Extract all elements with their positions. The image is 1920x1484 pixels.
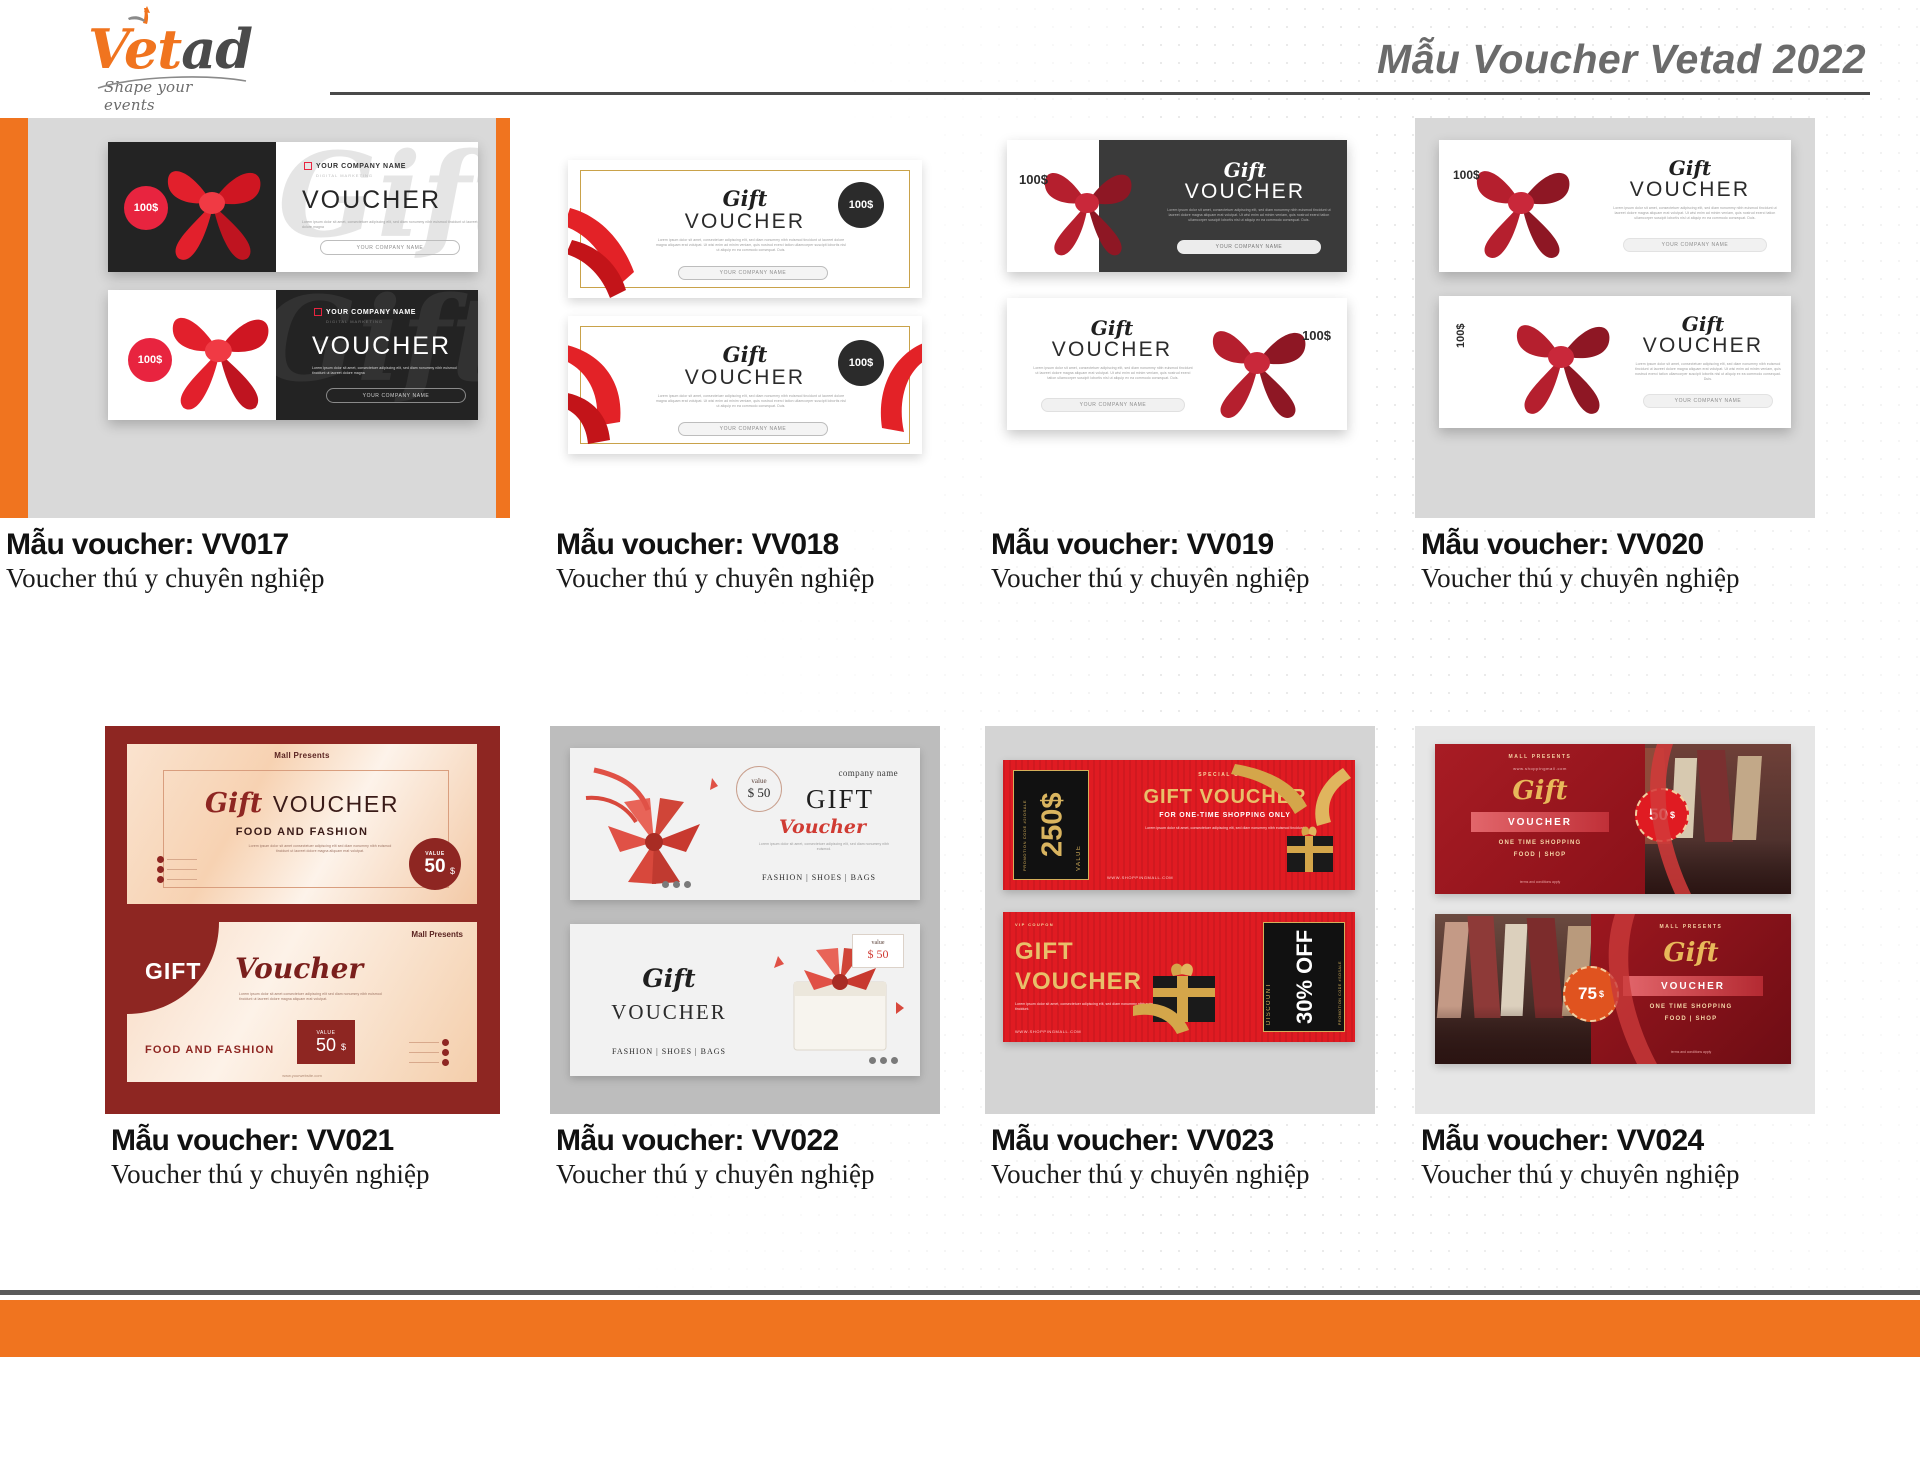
vv022-heading3-bottom: VOUCHER [594,1000,744,1025]
vv021-subheading-bottom: FOOD AND FASHION [145,1044,274,1056]
red-bow-icon [148,150,283,270]
social-icon [157,866,164,873]
caption-title-vv018: Mẫu voucher: VV018 [556,528,940,562]
voucher-thumb-vv020[interactable]: 100$ Gift VOUCHER Lorem ipsum dolor sit … [1415,118,1815,518]
vv021-url: www.yourwebsite.com [127,1073,477,1078]
red-ribbon-icon [1585,914,1665,1064]
vv022-script-top: Voucher [779,816,866,838]
social-line [409,1042,439,1044]
vv022-social-dots-top [662,881,691,888]
social-line [167,869,197,871]
social-icon [157,856,164,863]
logo-letters-et: et [124,17,181,81]
vv022-heading2-bottom: Gift [594,964,744,993]
caption-sub-vv020: Voucher thú y chuyên nghiệp [1421,563,1815,594]
vv017b-company-row: YOUR COMPANY NAME [314,308,416,316]
vv021-social-list-top [157,856,197,883]
swoosh-icon [96,76,248,90]
vv021-card-top[interactable]: Mall Presents Gift VOUCHER FOOD AND FASH… [127,744,477,904]
voucher-thumb-vv021[interactable]: Mall Presents Gift VOUCHER FOOD AND FASH… [105,726,500,1114]
vv017-card-top[interactable]: Gift 100$ YOUR COMPANY NAME [108,142,478,272]
voucher-tile-vv017[interactable]: Gift 100$ YOUR COMPANY NAME [0,118,510,594]
vv019-heading-bottom: VOUCHER [1027,338,1197,362]
vv021-value-amount-bottom: 50 [316,1036,336,1054]
social-icon [880,1057,887,1064]
vv020-card-top[interactable]: 100$ Gift VOUCHER Lorem ipsum dolor sit … [1439,140,1791,272]
vv022-value-amount-top: $ 50 [748,785,771,801]
vv021-script-top: Gift [205,788,262,819]
vv017-orange-bar-left [0,118,28,518]
gold-gift-box-icon [1133,936,1243,1036]
voucher-thumb-vv024[interactable]: MALL PRESENTS www.shoppingmall.com Gift … [1415,726,1815,1114]
logo-letter-v: V [88,17,124,81]
voucher-row-1: Gift 100$ YOUR COMPANY NAME [0,118,1920,678]
vv019-button-bottom[interactable]: YOUR COMPANY NAME [1041,398,1185,412]
vv017-button-top[interactable]: YOUR COMPANY NAME [320,240,460,255]
vv023-discount-label: DISCOUNT [1264,923,1274,1031]
vv022-card-bottom[interactable]: Gift VOUCHER FASHION | SHOES | BAGS [570,924,920,1076]
red-bow-icon [1499,302,1627,424]
voucher-thumb-vv017[interactable]: Gift 100$ YOUR COMPANY NAME [0,118,510,518]
vv021-subheading-top: FOOD AND FASHION [127,826,477,838]
vv019-badge-top: 100$ [1019,172,1048,187]
voucher-tile-vv024[interactable]: MALL PRESENTS www.shoppingmall.com Gift … [1415,726,1815,1190]
caption-title-vv020: Mẫu voucher: VV020 [1421,528,1815,562]
page-title: Mẫu Voucher Vetad 2022 [1377,36,1866,83]
vv021-heading2-bottom: GIFT [145,958,201,985]
voucher-tile-vv020[interactable]: 100$ Gift VOUCHER Lorem ipsum dolor sit … [1415,118,1815,594]
red-bow-icon [1029,152,1149,264]
social-icon [157,876,164,883]
vv021-body-top: Lorem ipsum dolor sit amet consectetuer … [245,844,395,854]
vv024-presenter-top: MALL PRESENTS [1435,754,1645,760]
vv023-url-top: WWW.SHOPPINGMALL.COM [1107,875,1173,880]
vv024-heading-top: VOUCHER [1471,812,1609,832]
vv023-discount-promo: PROMOTION CODE #SOSALE [1336,923,1344,1031]
vv018-button-bottom[interactable]: YOUR COMPANY NAME [678,422,828,436]
vv023-stub-value-label: VALUE [1076,779,1082,871]
caption-vv023: Mẫu voucher: VV023 Voucher thú y chuyên … [985,1124,1375,1190]
vv021-heading-top: VOUCHER [273,791,399,817]
gold-ribbon-gift-icon [1225,760,1355,890]
vv023-discount-value: 30% OFF [1274,923,1336,1031]
vv024-url-top: www.shoppingmall.com [1435,766,1645,771]
social-line [409,1062,439,1064]
vv018-body-bottom: Lorem ipsum dolor sit amet, consectetuer… [656,394,846,409]
vv020-badge-top: 100$ [1453,168,1480,182]
caption-title-vv023: Mẫu voucher: VV023 [991,1124,1375,1158]
vv021-title-row-top: Gift VOUCHER [127,788,477,819]
caption-sub-vv018: Voucher thú y chuyên nghiệp [556,563,940,594]
caption-sub-vv019: Voucher thú y chuyên nghiệp [991,563,1375,594]
voucher-thumb-vv023[interactable]: PROMOTION CODE #2IOSALE 250$ VALUE SPECI… [985,726,1375,1114]
vv020-button-top[interactable]: YOUR COMPANY NAME [1623,238,1767,252]
social-line [167,879,197,881]
social-icon [662,881,669,888]
vv024-card-top[interactable]: MALL PRESENTS www.shoppingmall.com Gift … [1435,744,1791,894]
vv021-script2-bottom: Voucher [235,952,363,985]
vv021-currency-bottom: $ [341,1042,346,1052]
vv024-terms2-top: FOOD | SHOP [1435,852,1645,858]
vv022-social-dots-bottom [869,1057,898,1064]
caption-title-vv019: Mẫu voucher: VV019 [991,528,1375,562]
vv023-stub-value: 250$ [1036,777,1070,873]
vv022-value-label-bottom: value [872,940,885,947]
red-bow-icon [152,296,292,420]
voucher-tile-vv023[interactable]: PROMOTION CODE #2IOSALE 250$ VALUE SPECI… [985,726,1375,1190]
social-icon [442,1039,449,1046]
social-icon [442,1049,449,1056]
vv018-card-top[interactable]: 100$ Gift VOUCHER Lorem ipsum dolor sit … [568,160,922,298]
vv020-heading-top: VOUCHER [1603,178,1777,202]
social-line [409,1052,439,1054]
voucher-tile-vv019[interactable]: 100$ Gift VOUCHER Lorem ipsum dolor sit … [985,118,1375,594]
vv017-card-bottom[interactable]: Gift 100$ YOUR COMPANY NAME [108,290,478,420]
voucher-thumb-vv018[interactable]: 100$ Gift VOUCHER Lorem ipsum dolor sit … [550,118,940,518]
vv022-value-tag-bottom: value $ 50 [852,934,904,968]
vv021-card-bottom[interactable]: Mall Presents GIFT Voucher Lorem ipsum d… [127,922,477,1082]
vv017b-heading: VOUCHER [312,332,451,361]
voucher-thumb-vv019[interactable]: 100$ Gift VOUCHER Lorem ipsum dolor sit … [985,118,1375,518]
company-mark-icon [304,162,312,170]
red-bow-icon [1195,308,1325,428]
vv020-badge-bottom: 100$ [1455,324,1467,348]
caption-vv020: Mẫu voucher: VV020 Voucher thú y chuyên … [1415,528,1815,594]
caption-title-vv024: Mẫu voucher: VV024 [1421,1124,1815,1158]
vv021-social-list-bottom [409,1039,449,1066]
social-icon [891,1057,898,1064]
vv017b-badge: 100$ [128,338,172,382]
vv022-card-top[interactable]: value $ 50 company name GIFT Voucher Lor… [570,748,920,900]
vv017-body: Lorem ipsum dolor sit amet, consectetuer… [302,220,478,230]
vv020-heading-bottom: VOUCHER [1629,334,1777,358]
vv019-body-top: Lorem ipsum dolor sit amet, consectetuer… [1165,208,1333,223]
caption-sub-vv024: Voucher thú y chuyên nghiệp [1421,1159,1815,1190]
vv017b-body: Lorem ipsum dolor sit amet, consectetuer… [312,366,462,376]
caption-sub-vv017: Voucher thú y chuyên nghiệp [6,563,510,594]
vv017b-company-sub: DIGITAL MARKETING [326,319,383,324]
caption-title-vv017: Mẫu voucher: VV017 [6,528,510,562]
caption-sub-vv021: Voucher thú y chuyên nghiệp [111,1159,500,1190]
caption-vv022: Mẫu voucher: VV022 Voucher thú y chuyên … [550,1124,940,1190]
vv019-script-top: Gift [1157,158,1333,182]
vv023-heading2b-bottom: VOUCHER [1015,968,1142,996]
vv019-card-top[interactable]: 100$ Gift VOUCHER Lorem ipsum dolor sit … [1007,140,1347,272]
footer-bar [0,1300,1920,1357]
vv018-script-bottom: Gift [568,342,922,367]
voucher-row-2: Mall Presents Gift VOUCHER FOOD AND FASH… [0,726,1920,1286]
vv023-card-bottom[interactable]: VIP COUPON GIFT VOUCHER Lorem ipsum dolo… [1003,912,1355,1042]
vetad-logo[interactable]: Vetad Shape your events [88,22,248,104]
vv023-stub-promo: PROMOTION CODE #2IOSALE [1022,779,1030,871]
vv022-categories-top: FASHION | SHOES | BAGS [762,873,876,882]
vv022-body-top: Lorem ipsum dolor sit amet, consectetuer… [754,842,894,852]
caption-vv017: Mẫu voucher: VV017 Voucher thú y chuyên … [0,528,510,594]
vv018-card-bottom[interactable]: 100$ Gift VOUCHER Lorem ipsum dolor sit … [568,316,922,454]
vv021-presenter-bottom: Mall Presents [411,930,463,939]
vv017-company-sub: DIGITAL MARKETING [316,173,373,178]
vv022-heading-top: GIFT [806,784,874,815]
vv021-value-amount-top: 50 [424,857,445,876]
vv021-body-bottom: Lorem ipsum dolor sit amet consectetuer … [239,992,389,1002]
vv022-value-label-top: value [751,777,766,785]
vv023-heading2a-bottom: GIFT [1015,938,1074,966]
vv021-presenter-top: Mall Presents [127,751,477,760]
voucher-tile-vv021[interactable]: Mall Presents Gift VOUCHER FOOD AND FASH… [105,726,500,1190]
social-icon [869,1057,876,1064]
red-star-bow-icon [582,756,732,896]
vv017-company-row: YOUR COMPANY NAME [304,162,406,170]
vv019-card-bottom[interactable]: 100$ Gift VOUCHER Lorem ipsum dolor sit … [1007,298,1347,430]
caption-vv019: Mẫu voucher: VV019 Voucher thú y chuyên … [985,528,1375,594]
social-line [167,859,197,861]
vv022-categories-bottom: FASHION | SHOES | BAGS [594,1047,744,1056]
caption-sub-vv022: Voucher thú y chuyên nghiệp [556,1159,940,1190]
vv021-value-tag-bottom: VALUE 50 [297,1020,355,1064]
vv020-script-top: Gift [1603,156,1777,180]
vv018-script-top: Gift [568,186,922,211]
vv017-button-bottom[interactable]: YOUR COMPANY NAME [326,388,466,403]
footer-divider [0,1290,1920,1295]
caption-vv021: Mẫu voucher: VV021 Voucher thú y chuyên … [105,1124,500,1190]
vv021-value-badge-top: VALUE 50 [409,838,461,890]
vv017b-company-name: YOUR COMPANY NAME [326,309,416,316]
vv024-terms-note-top: terms and conditions apply [1435,880,1645,884]
voucher-grid: Gift 100$ YOUR COMPANY NAME [0,118,1920,1286]
vv018-button-top[interactable]: YOUR COMPANY NAME [678,266,828,280]
vv023-stub-top: PROMOTION CODE #2IOSALE 250$ VALUE [1013,770,1089,880]
caption-sub-vv023: Voucher thú y chuyên nghiệp [991,1159,1375,1190]
vv019-button-top[interactable]: YOUR COMPANY NAME [1177,240,1321,254]
logo-wordmark: Vetad [88,22,248,76]
vv019-heading-top: VOUCHER [1157,180,1333,204]
vv023-discount-block: DISCOUNT 30% OFF PROMOTION CODE #SOSALE [1263,922,1345,1032]
caption-title-vv022: Mẫu voucher: VV022 [556,1124,940,1158]
vv021-currency-top: $ [450,866,455,876]
header-divider [330,92,1870,95]
vv018-heading-top: VOUCHER [568,210,922,234]
vv020-button-bottom[interactable]: YOUR COMPANY NAME [1643,394,1773,408]
caption-title-vv021: Mẫu voucher: VV021 [111,1124,500,1158]
vv024-card-bottom[interactable]: MALL PRESENTS Gift VOUCHER ONE TIME SHOP… [1435,914,1791,1064]
vv019-badge-bottom: 100$ [1302,328,1331,343]
vv024-terms1-top: ONE TIME SHOPPING [1435,840,1645,846]
vv023-url-bottom: WWW.SHOPPINGMALL.COM [1015,1029,1081,1034]
voucher-thumb-vv022[interactable]: value $ 50 company name GIFT Voucher Lor… [550,726,940,1114]
vv022-value-amount-bottom: $ 50 [868,947,889,961]
vv020-body-bottom: Lorem ipsum dolor sit amet, consectetuer… [1635,362,1781,382]
page-header: Vetad Shape your events Mẫu Voucher Veta… [0,0,1920,116]
social-icon [442,1059,449,1066]
company-mark-icon [314,308,322,316]
caption-vv018: Mẫu voucher: VV018 Voucher thú y chuyên … [550,528,940,594]
vv023-eyebrow-bottom: VIP COUPON [1015,922,1054,927]
voucher-tile-vv022[interactable]: value $ 50 company name GIFT Voucher Lor… [550,726,940,1190]
vv019-script-bottom: Gift [1027,316,1197,340]
vv018-heading-bottom: VOUCHER [568,366,922,390]
vv017-badge: 100$ [124,186,168,230]
vv020-script-bottom: Gift [1629,312,1777,336]
voucher-tile-vv018[interactable]: 100$ Gift VOUCHER Lorem ipsum dolor sit … [550,118,940,594]
vv022-value-circle-top: value $ 50 [736,766,782,812]
red-ribbon-icon [1621,744,1691,894]
vv023-card-top[interactable]: PROMOTION CODE #2IOSALE 250$ VALUE SPECI… [1003,760,1355,890]
vv020-body-top: Lorem ipsum dolor sit amet, consectetuer… [1611,206,1779,221]
vv017-heading: VOUCHER [302,186,441,215]
vv022-company-top: company name [838,768,898,778]
social-icon [673,881,680,888]
vv019-body-bottom: Lorem ipsum dolor sit amet, consectetuer… [1033,366,1193,381]
vv020-card-bottom[interactable]: 100$ Gift VOUCHER Lorem ipsum dolor sit … [1439,296,1791,428]
vv018-body-top: Lorem ipsum dolor sit amet, consectetuer… [656,238,846,253]
vv024-script-top: Gift [1435,776,1645,806]
vv017-orange-bar-right [496,118,510,518]
social-icon [684,881,691,888]
vv017-stage: Gift 100$ YOUR COMPANY NAME [0,118,510,518]
vv017-company-name: YOUR COMPANY NAME [316,163,406,170]
caption-vv024: Mẫu voucher: VV024 Voucher thú y chuyên … [1415,1124,1815,1190]
logo-letters-ad: ad [181,17,252,81]
